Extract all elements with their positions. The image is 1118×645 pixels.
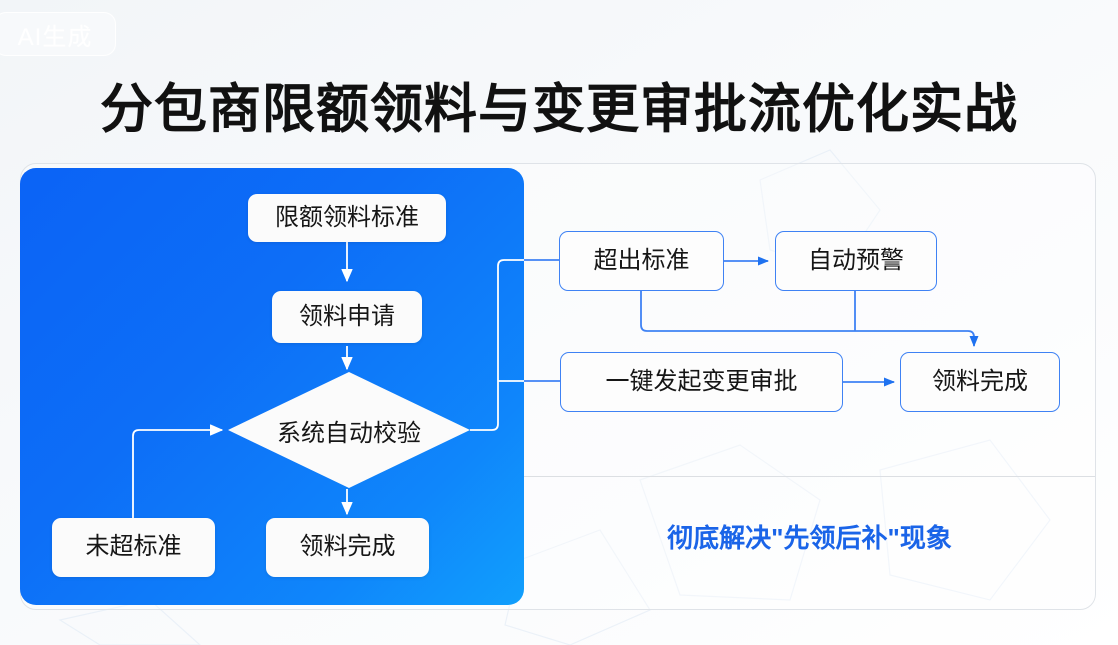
node-label: 领料申请 (299, 304, 395, 330)
ai-generated-badge: AI生成 (0, 12, 116, 56)
node-auto-alert[interactable]: 自动预警 (775, 231, 937, 291)
node-picking-complete-right[interactable]: 领料完成 (900, 352, 1060, 412)
summary-caption: 彻底解决"先领后补"现象 (524, 518, 1095, 555)
node-label: 领料完成 (932, 369, 1028, 395)
slide-root: AI生成 分包商限额领料与变更审批流优化实战 (0, 0, 1118, 645)
node-exceed-standard[interactable]: 超出标准 (559, 231, 724, 291)
node-label: 一键发起变更审批 (606, 369, 798, 395)
node-label: 系统自动校验 (277, 413, 421, 448)
node-within-standard[interactable]: 未超标准 (52, 518, 215, 577)
node-label: 自动预警 (808, 248, 904, 274)
ai-generated-badge-label: AI生成 (18, 17, 93, 52)
section-divider (524, 476, 1095, 477)
node-label: 超出标准 (594, 248, 690, 274)
node-picking-request[interactable]: 领料申请 (272, 291, 422, 343)
node-limit-picking-standard[interactable]: 限额领料标准 (248, 194, 446, 242)
node-label: 未超标准 (86, 534, 182, 560)
node-label: 领料完成 (300, 534, 396, 560)
node-one-click-change-approval[interactable]: 一键发起变更审批 (560, 352, 843, 412)
node-label: 限额领料标准 (275, 205, 419, 231)
page-title: 分包商限额领料与变更审批流优化实战 (0, 67, 1118, 143)
node-picking-complete-left[interactable]: 领料完成 (266, 518, 429, 577)
node-system-auto-check[interactable]: 系统自动校验 (228, 372, 470, 488)
